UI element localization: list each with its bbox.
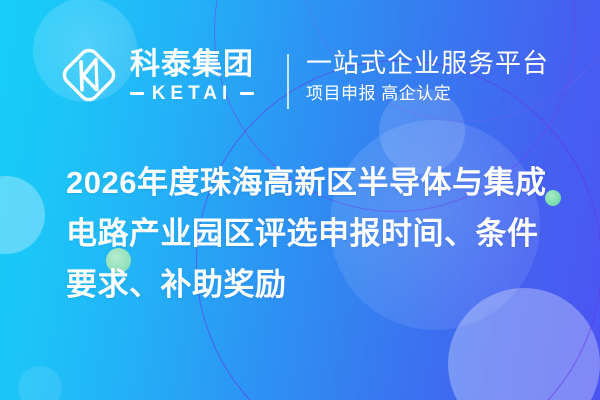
company-logo: 科泰集团 KETAI: [58, 44, 254, 106]
logo-english-name: KETAI: [150, 84, 234, 103]
logo-wordmark: 科泰集团 KETAI: [130, 48, 254, 103]
header-vertical-divider: [287, 54, 289, 109]
tagline-primary: 一站式企业服务平台: [306, 48, 549, 79]
title-line: 要求、补助奖励: [66, 259, 566, 310]
decorative-circle-left-edge: [0, 176, 45, 254]
banner-title: 2026年度珠海高新区半导体与集成 电路产业园区评选申报时间、条件 要求、补助奖…: [66, 157, 566, 310]
title-line: 电路产业园区评选申报时间、条件: [66, 208, 566, 259]
decorative-circle-bottom-left: [18, 366, 62, 400]
tagline-secondary: 项目申报 高企认定: [306, 84, 549, 104]
banner-header: 科泰集团 KETAI 一站式企业服务平台 项目申报 高企认定: [0, 0, 600, 140]
header-tagline: 一站式企业服务平台 项目申报 高企认定: [306, 48, 549, 104]
title-line: 2026年度珠海高新区半导体与集成: [66, 157, 566, 208]
promotional-banner: 科泰集团 KETAI 一站式企业服务平台 项目申报 高企认定 2026年度珠海高…: [0, 0, 600, 400]
logo-rule-left-icon: [130, 92, 144, 95]
logo-chinese-name: 科泰集团: [130, 50, 254, 80]
ketai-diamond-k-logo-icon: [58, 44, 120, 106]
logo-english-row: KETAI: [130, 84, 254, 103]
logo-rule-right-icon: [240, 92, 254, 95]
